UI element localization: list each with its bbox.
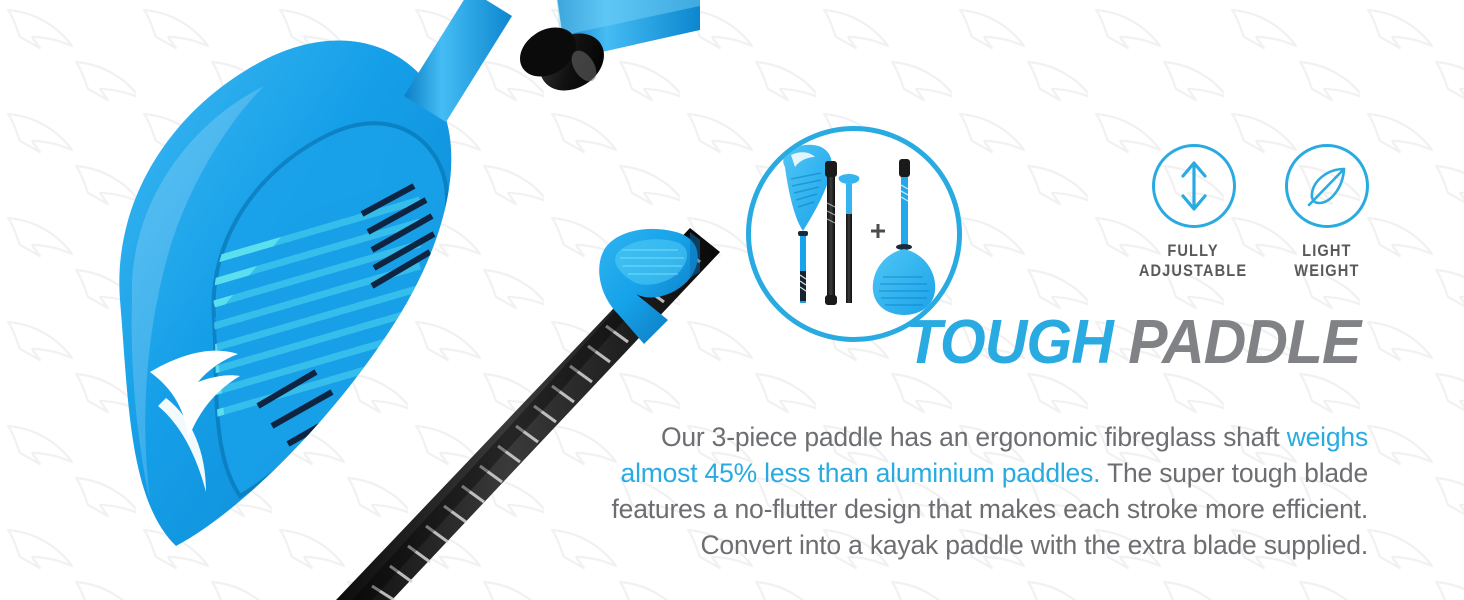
feature-label: LIGHT WEIGHT — [1294, 241, 1359, 281]
feature-ring — [1152, 144, 1236, 228]
feather-leaf-icon — [1302, 161, 1352, 211]
page-title: TOUGH PADDLE — [906, 312, 1360, 374]
product-feature-banner: FULLY ADJUSTABLE LIGHT WEIGHT TOUGH PADD… — [0, 0, 1464, 600]
feature-label: FULLY ADJUSTABLE — [1139, 241, 1247, 281]
body-copy: Our 3-piece paddle has an ergonomic fibr… — [608, 419, 1368, 563]
feature-ring — [1285, 144, 1369, 228]
vertical-double-arrow-icon — [1172, 158, 1216, 214]
headline-muted: PADDLE — [1128, 308, 1360, 377]
feature-badges: FULLY ADJUSTABLE LIGHT WEIGHT — [1128, 144, 1392, 281]
body-copy-segment: Our 3-piece paddle has an ergonomic fibr… — [661, 422, 1287, 452]
plus-symbol-icon — [871, 224, 885, 238]
headline-strong: TOUGH — [906, 308, 1113, 377]
feature-fully-adjustable: FULLY ADJUSTABLE — [1146, 144, 1241, 281]
sup-paddle-blade — [783, 145, 832, 303]
feature-light-weight: LIGHT WEIGHT — [1279, 144, 1374, 281]
extra-kayak-blade — [873, 159, 935, 315]
paddle-blade — [119, 40, 451, 546]
t-grip-handle-section — [839, 174, 860, 303]
